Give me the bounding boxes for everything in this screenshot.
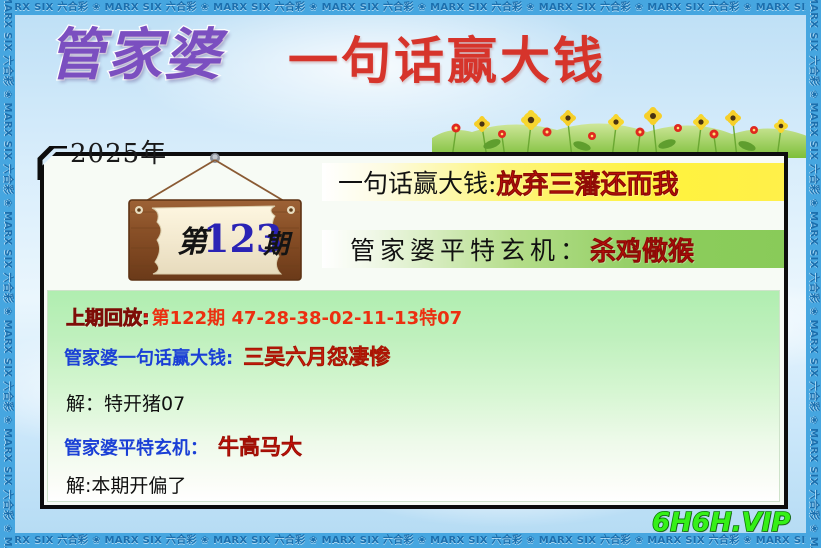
border-top-text: MARX SIX 六合彩 ❀ MARX SIX 六合彩 ❀ MARX SIX 六… xyxy=(0,0,821,15)
answer-line-1: 解：特开猪07 xyxy=(66,389,185,416)
hanging-issue-sign: 第 123 期 xyxy=(95,152,335,287)
border-left-text: MARX SIX 六合彩 ❀ MARX SIX 六合彩 ❀ MARX SIX 六… xyxy=(0,0,15,542)
border-right-text: MARX SIX 六合彩 ❀ MARX SIX 六合彩 ❀ MARX SIX 六… xyxy=(806,0,821,542)
last-special-label: 管家婆平特玄机： xyxy=(64,434,208,460)
prediction-yellow-value: 放弃三藩还而我 xyxy=(496,164,678,201)
prediction-green-label: 管家婆平特玄机： xyxy=(350,231,590,267)
answer-line-2: 解:本期开偏了 xyxy=(66,471,186,498)
border-left: MARX SIX 六合彩 ❀ MARX SIX 六合彩 ❀ MARX SIX 六… xyxy=(0,0,15,548)
poster-canvas: 管家婆 一句话赢大钱 2025年 第 123 xyxy=(0,0,821,548)
site-watermark: 6H6H.VIP xyxy=(652,508,790,538)
answer-1-text: 解：特开猪07 xyxy=(66,389,185,416)
border-top: MARX SIX 六合彩 ❀ MARX SIX 六合彩 ❀ MARX SIX 六… xyxy=(0,0,821,15)
prediction-row-green: 管家婆平特玄机： 杀鸡儆猴 xyxy=(322,230,784,268)
answer-2-text: 解:本期开偏了 xyxy=(66,471,186,498)
replay-line: 上期回放: 第122期 47-28-38-02-11-13特07 xyxy=(66,303,462,330)
border-right: MARX SIX 六合彩 ❀ MARX SIX 六合彩 ❀ MARX SIX 六… xyxy=(806,0,821,548)
last-slogan-line: 管家婆一句话赢大钱: 三吴六月怨凄惨 xyxy=(64,341,390,371)
last-special-line: 管家婆平特玄机： 牛高马大 xyxy=(64,431,302,461)
replay-label: 上期回放: xyxy=(66,303,150,330)
prediction-row-yellow: 一句话赢大钱: 放弃三藩还而我 xyxy=(322,163,784,201)
flower-grass-decoration xyxy=(432,96,807,158)
last-slogan-label: 管家婆一句话赢大钱: xyxy=(64,344,233,370)
slogan-title: 一句话赢大钱 xyxy=(288,36,606,86)
prediction-yellow-label: 一句话赢大钱: xyxy=(338,164,496,200)
brand-title: 管家婆 xyxy=(48,28,222,84)
prediction-green-value: 杀鸡儆猴 xyxy=(590,231,694,268)
last-special-value: 牛高马大 xyxy=(218,431,302,461)
results-panel: 上期回放: 第122期 47-28-38-02-11-13特07 管家婆一句话赢… xyxy=(47,290,780,502)
svg-text:期: 期 xyxy=(262,230,293,260)
last-slogan-value: 三吴六月怨凄惨 xyxy=(243,341,390,371)
frame-corner-notch xyxy=(33,146,67,180)
replay-value: 第122期 47-28-38-02-11-13特07 xyxy=(152,304,463,330)
